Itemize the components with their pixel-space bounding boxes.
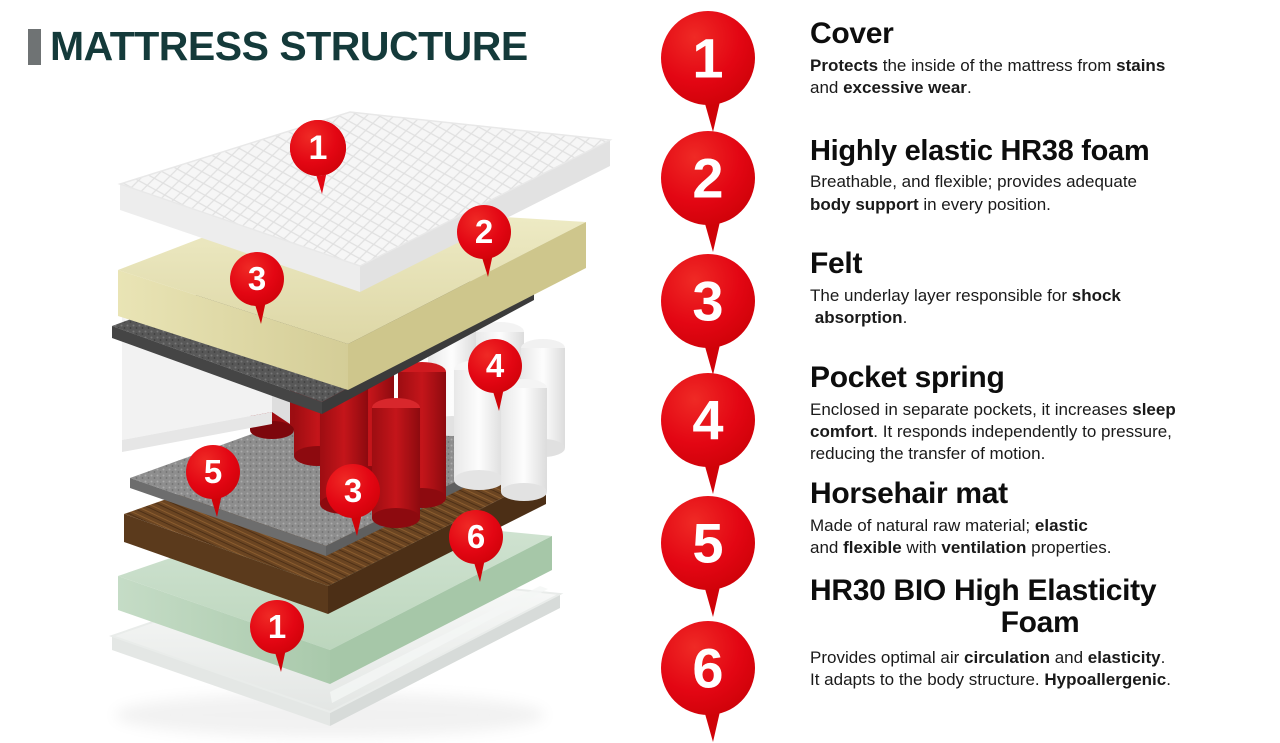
list-text-block: Highly elastic HR38 foam Breathable, and… bbox=[810, 136, 1270, 216]
illustration-marker-1-bottom[interactable]: 1 bbox=[248, 598, 306, 674]
illustration-marker-5[interactable]: 5 bbox=[184, 443, 242, 519]
list-item-title: Pocket spring bbox=[810, 362, 1270, 394]
illustration-marker-1-top[interactable]: 1 bbox=[288, 118, 348, 196]
svg-text:1: 1 bbox=[692, 27, 723, 90]
marker-number: 4 bbox=[486, 347, 504, 385]
pin-shape-icon: 2 bbox=[660, 130, 756, 254]
pin-shape-icon: 1 bbox=[660, 10, 756, 134]
exploded-mattress-illustration: 1 2 3 bbox=[0, 0, 640, 743]
list-item-description: Enclosed in separate pockets, it increas… bbox=[810, 399, 1270, 465]
list-item-title: HR30 BIO High Elasticity bbox=[810, 575, 1270, 607]
list-marker-2[interactable]: 2 bbox=[660, 130, 756, 254]
pin-shape-icon: 4 bbox=[660, 372, 756, 496]
svg-text:3: 3 bbox=[692, 270, 723, 333]
list-item-description: Breathable, and flexible; provides adequ… bbox=[810, 171, 1270, 215]
illustration-marker-3-lower[interactable]: 3 bbox=[324, 462, 382, 538]
illustration-marker-4[interactable]: 4 bbox=[466, 337, 524, 413]
list-marker-1[interactable]: 1 bbox=[660, 10, 756, 134]
list-text-block: Felt The underlay layer responsible for … bbox=[810, 248, 1270, 329]
svg-text:4: 4 bbox=[692, 389, 723, 452]
pin-shape-icon: 6 bbox=[660, 620, 756, 743]
illustration-marker-6[interactable]: 6 bbox=[447, 508, 505, 584]
list-marker-6[interactable]: 6 bbox=[660, 620, 756, 743]
marker-number: 3 bbox=[248, 260, 266, 298]
list-marker-5[interactable]: 5 bbox=[660, 495, 756, 619]
pin-shape-icon: 3 bbox=[660, 253, 756, 377]
list-text-block: Pocket spring Enclosed in separate pocke… bbox=[810, 362, 1270, 465]
svg-text:5: 5 bbox=[692, 512, 723, 575]
marker-number: 2 bbox=[475, 213, 493, 251]
list-item-title: Highly elastic HR38 foam bbox=[810, 136, 1270, 166]
marker-number: 5 bbox=[204, 453, 222, 491]
list-item-description: Protects the inside of the mattress from… bbox=[810, 55, 1270, 99]
mattress-layers-svg bbox=[0, 0, 640, 743]
svg-text:2: 2 bbox=[692, 147, 723, 210]
list-item-title: Felt bbox=[810, 248, 1270, 280]
list-item-title: Cover bbox=[810, 18, 1270, 50]
infographic-page: MATTRESS STRUCTURE bbox=[0, 0, 1280, 743]
marker-number: 1 bbox=[268, 608, 286, 646]
list-item-description: The underlay layer responsible for shock… bbox=[810, 285, 1270, 329]
list-item-description: Provides optimal air circulation and ela… bbox=[810, 647, 1270, 691]
marker-number: 6 bbox=[467, 518, 485, 556]
marker-number: 1 bbox=[309, 129, 328, 168]
layer-description-list: 1 Cover Protects the inside of the mattr… bbox=[650, 0, 1280, 743]
svg-text:6: 6 bbox=[692, 637, 723, 700]
list-marker-3[interactable]: 3 bbox=[660, 253, 756, 377]
illustration-marker-3-upper[interactable]: 3 bbox=[228, 250, 286, 326]
marker-number: 3 bbox=[344, 472, 362, 510]
list-text-block: HR30 BIO High Elasticity Foam Provides o… bbox=[810, 575, 1270, 691]
list-text-block: Cover Protects the inside of the mattres… bbox=[810, 18, 1270, 99]
list-item-description: Made of natural raw material; elasticand… bbox=[810, 515, 1270, 559]
list-text-block: Horsehair mat Made of natural raw materi… bbox=[810, 478, 1270, 559]
list-marker-4[interactable]: 4 bbox=[660, 372, 756, 496]
list-item-title: Horsehair mat bbox=[810, 478, 1270, 510]
pin-shape-icon: 5 bbox=[660, 495, 756, 619]
list-item-title-line2: Foam bbox=[810, 607, 1270, 639]
illustration-marker-2[interactable]: 2 bbox=[455, 203, 513, 279]
